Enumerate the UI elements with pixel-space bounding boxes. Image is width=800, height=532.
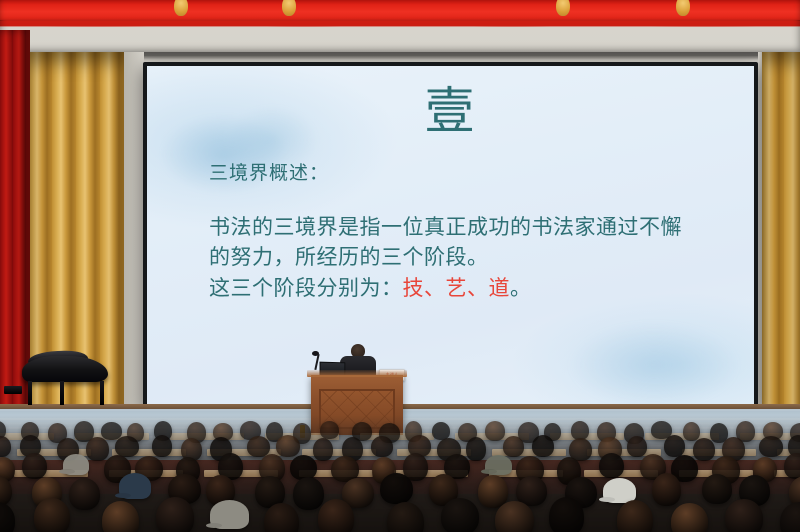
audience-head [276,435,300,457]
audience-head [725,499,763,532]
presentation-slide: 壹 三境界概述： 书法的三境界是指一位真正成功的书法家通过不懈 的努力，所经历的… [147,66,754,405]
audience-head [380,473,413,504]
audience-head [759,436,783,457]
audience-head [371,436,393,457]
audience-head [318,499,354,532]
audience-head [652,473,681,506]
slide-body: 书法的三境界是指一位真正成功的书法家通过不懈 的努力，所经历的三个阶段。 这三个… [209,212,724,303]
audience-head [441,498,479,532]
piano-leg [60,381,64,405]
audience-head [69,478,100,510]
audience-head [152,435,172,457]
piano-bench [4,386,22,394]
audience-head [290,455,317,480]
gold-curtain-right [760,52,800,420]
audience-head [503,436,524,457]
audience-head [156,497,194,532]
wall-strip-right [758,52,762,420]
audience-head [466,437,486,461]
audience-head [102,501,139,532]
projection-screen-frame: 壹 三境界概述： 书法的三境界是指一位真正成功的书法家通过不懈 的努力，所经历的… [143,62,758,409]
audience-head [313,438,333,461]
banner-ornament-icon [676,0,690,16]
grand-piano [18,356,110,406]
banner-ornament-icon [556,0,570,16]
audience-head [293,477,324,510]
slide-body-line-1: 书法的三境界是指一位真正成功的书法家通过不懈 [209,212,724,242]
audience-cap-icon [485,455,512,475]
piano-body-icon [22,356,108,382]
audience-head [86,437,109,461]
slide-body-line-3: 这三个阶段分别为：技、艺、道。 [209,273,724,303]
audience-head [22,453,47,479]
audience-head [115,436,139,457]
audience-head [34,498,70,532]
audience-head [599,453,624,478]
audience-head [320,421,339,439]
audience-head [617,500,653,532]
wooden-slat-valance [0,20,800,56]
banner-ornament-icon [174,0,188,16]
piano-leg [100,381,104,405]
audience-head [101,422,122,440]
audience-head [784,453,800,479]
slide-body-line-2: 的努力，所经历的三个阶段。 [209,242,724,272]
audience-head [664,435,685,457]
slide-heading: 三境界概述： [209,158,329,185]
slide-title: 壹 [147,86,754,136]
auditorium-photo: 壹 三境界概述： 书法的三境界是指一位真正成功的书法家通过不懈 的努力，所经历的… [0,0,800,532]
audience-cap-icon [119,473,151,499]
audience [0,415,800,532]
audience-head [693,438,715,461]
audience-cap-icon [210,500,249,529]
banner-ornament-icon [282,0,296,16]
slide-body-line-3-accent: 技、艺、道 [403,276,511,300]
audience-head [683,422,700,441]
watercolor-bottom-motif [544,305,754,405]
audience-head [702,474,732,504]
audience-head [627,436,647,457]
audience-head [247,436,270,457]
audience-head [387,502,424,532]
audience-cap-icon [63,454,89,475]
audience-head [532,435,554,457]
slide-body-line-3-prefix: 这三个阶段分别为： [209,276,403,300]
audience-head [485,421,505,441]
slide-body-line-3-suffix: 。 [510,276,532,300]
wall-strip-left [124,52,144,420]
piano-leg [28,381,32,405]
audience-head [495,501,534,532]
audience-head [549,497,584,532]
lectern-top [307,370,407,377]
